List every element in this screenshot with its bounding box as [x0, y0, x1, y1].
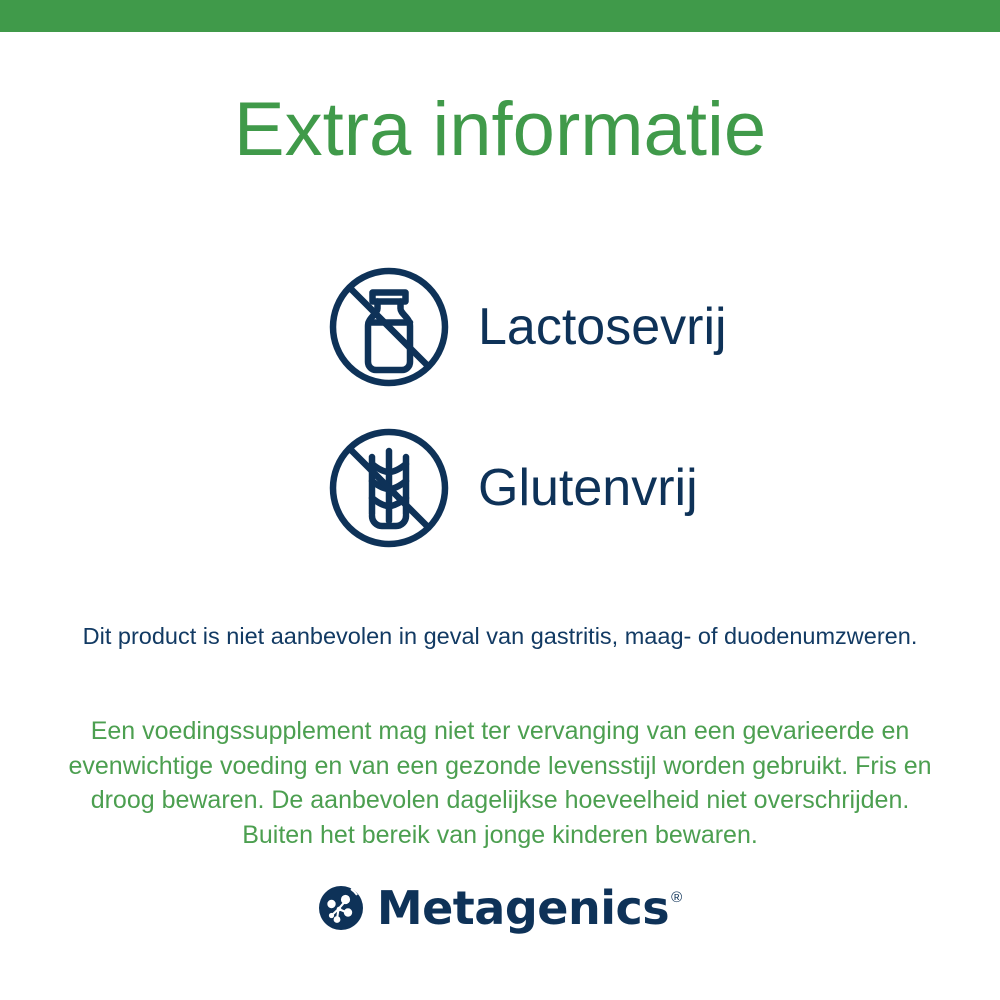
claim-label-lactose-free: Lactosevrij: [478, 298, 727, 356]
top-accent-bar: [0, 0, 1000, 32]
claims-list: Lactosevrij Glutenvrij: [0, 266, 1000, 549]
brand-logo: Metagenics ®: [0, 884, 1000, 932]
no-lactose-icon: [328, 266, 450, 388]
registered-trademark-symbol: ®: [671, 890, 682, 905]
infographic-panel: Extra informatie Lactosevrij: [0, 0, 1000, 1000]
metagenics-molecule-icon: [318, 885, 364, 931]
page-title: Extra informatie: [0, 84, 1000, 176]
claim-item-lactose-free: Lactosevrij: [0, 266, 1000, 388]
claim-label-gluten-free: Glutenvrij: [478, 459, 698, 517]
claim-item-gluten-free: Glutenvrij: [0, 427, 1000, 549]
no-gluten-icon: [328, 427, 450, 549]
disclaimer-note: Een voedingssupplement mag niet ter verv…: [60, 714, 940, 852]
warning-note: Dit product is niet aanbevolen in geval …: [30, 619, 970, 653]
brand-wordmark: Metagenics: [377, 884, 669, 932]
